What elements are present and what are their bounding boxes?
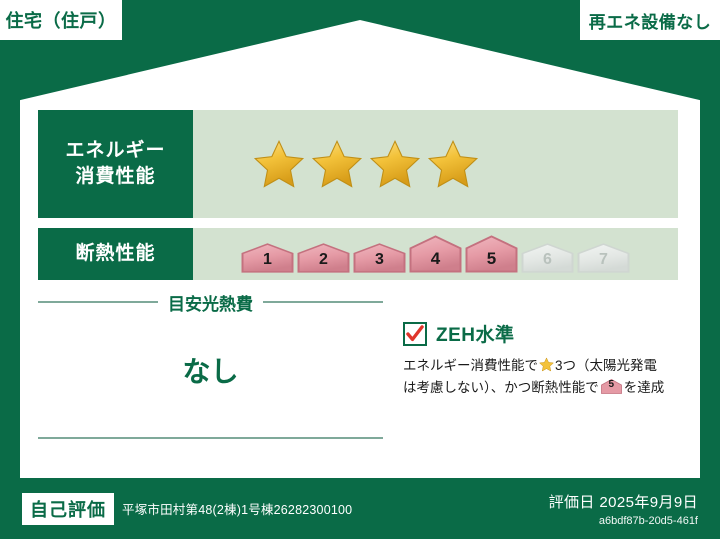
house-level-number: 1 <box>241 251 294 269</box>
house-level-number: 7 <box>577 251 630 269</box>
insulation-level-6: 6 <box>521 243 574 273</box>
zeh-standard-section: ZEH水準 エネルギー消費性能で 3つ（太陽光発電 は考慮しない）、かつ断熱性能… <box>403 320 678 400</box>
tab-renewable-status[interactable]: 再エネ設備なし <box>580 0 720 40</box>
evaluation-id: a6bdf87b-20d5-461f <box>549 515 698 527</box>
house-level-number: 2 <box>297 251 350 269</box>
tab-building-type[interactable]: 住宅（住戸） <box>0 0 122 40</box>
property-address: 平塚市田村第48(2棟)1号棟26282300100 <box>122 499 352 518</box>
star-icon-inline <box>539 357 554 372</box>
label-content: エネルギー 消費性能 断熱性能 1234567 目安光熱費 なし <box>38 110 678 478</box>
zeh-desc-stars: 3つ（太陽光発電 <box>555 358 657 373</box>
row-energy-performance: エネルギー 消費性能 <box>38 110 678 218</box>
insulation-level-2: 2 <box>297 243 350 273</box>
insulation-level-7: 7 <box>577 243 630 273</box>
footer-right: 評価日 2025年9月9日 a6bdf87b-20d5-461f <box>549 491 698 527</box>
insulation-level-1: 1 <box>241 243 294 273</box>
utility-cost-value: なし <box>38 350 383 390</box>
zeh-desc-part1: エネルギー消費性能で <box>403 358 538 373</box>
zeh-title-row: ZEH水準 <box>403 320 678 347</box>
insulation-label: 断熱性能 <box>75 241 155 267</box>
star-icon <box>253 138 305 190</box>
tab-renewable-status-label: 再エネ設備なし <box>589 8 712 33</box>
energy-performance-label-box: エネルギー 消費性能 <box>38 110 193 218</box>
energy-label-line1: エネルギー <box>65 138 165 164</box>
insulation-badge-inline: 5 <box>601 379 622 394</box>
heading-rule-left <box>38 301 158 303</box>
insulation-performance-label-box: 断熱性能 <box>38 228 193 280</box>
zeh-desc-part2: は考慮しない）、かつ断熱性能で <box>403 380 599 395</box>
insulation-level-5: 5 <box>465 235 518 273</box>
energy-performance-label: 建築物省エネ法に基づく 省エネ性能ラベル 住宅（住戸） 再エネ設備なし エネルギ… <box>0 0 720 539</box>
insulation-scale-area: 1234567 <box>193 228 678 280</box>
zeh-description: エネルギー消費性能で 3つ（太陽光発電 は考慮しない）、かつ断熱性能で 5 を達… <box>403 355 678 400</box>
star-icon <box>369 138 421 190</box>
footer-left: 自己評価 平塚市田村第48(2棟)1号棟26282300100 <box>22 493 352 525</box>
house-level-number: 3 <box>353 251 406 269</box>
house-level-number: 6 <box>521 251 574 269</box>
star-icon <box>311 138 363 190</box>
energy-star-rating <box>193 110 678 218</box>
utility-cost-bottom-rule <box>38 437 383 439</box>
zeh-desc-part3: を達成 <box>624 380 665 395</box>
heading-rule-right <box>263 301 383 303</box>
insulation-level-scale: 1234567 <box>241 235 630 273</box>
utility-cost-section: 目安光熱費 なし <box>38 292 383 448</box>
label-footer: 自己評価 平塚市田村第48(2棟)1号棟26282300100 評価日 2025… <box>0 478 720 539</box>
insulation-badge-inline-num: 5 <box>601 379 622 394</box>
check-icon <box>403 322 427 346</box>
utility-cost-heading-text: 目安光熱費 <box>168 290 253 315</box>
row-insulation-performance: 断熱性能 1234567 <box>38 228 678 280</box>
insulation-level-3: 3 <box>353 243 406 273</box>
tab-building-type-label: 住宅（住戸） <box>6 7 117 33</box>
house-level-number: 4 <box>409 249 462 269</box>
evaluation-date: 評価日 2025年9月9日 <box>549 491 698 512</box>
insulation-level-4: 4 <box>409 235 462 273</box>
house-level-number: 5 <box>465 249 518 269</box>
star-icon <box>427 138 479 190</box>
zeh-title: ZEH水準 <box>436 320 515 347</box>
self-evaluation-badge: 自己評価 <box>22 493 114 525</box>
utility-cost-heading: 目安光熱費 <box>38 292 383 312</box>
energy-label-line2: 消費性能 <box>75 164 155 190</box>
